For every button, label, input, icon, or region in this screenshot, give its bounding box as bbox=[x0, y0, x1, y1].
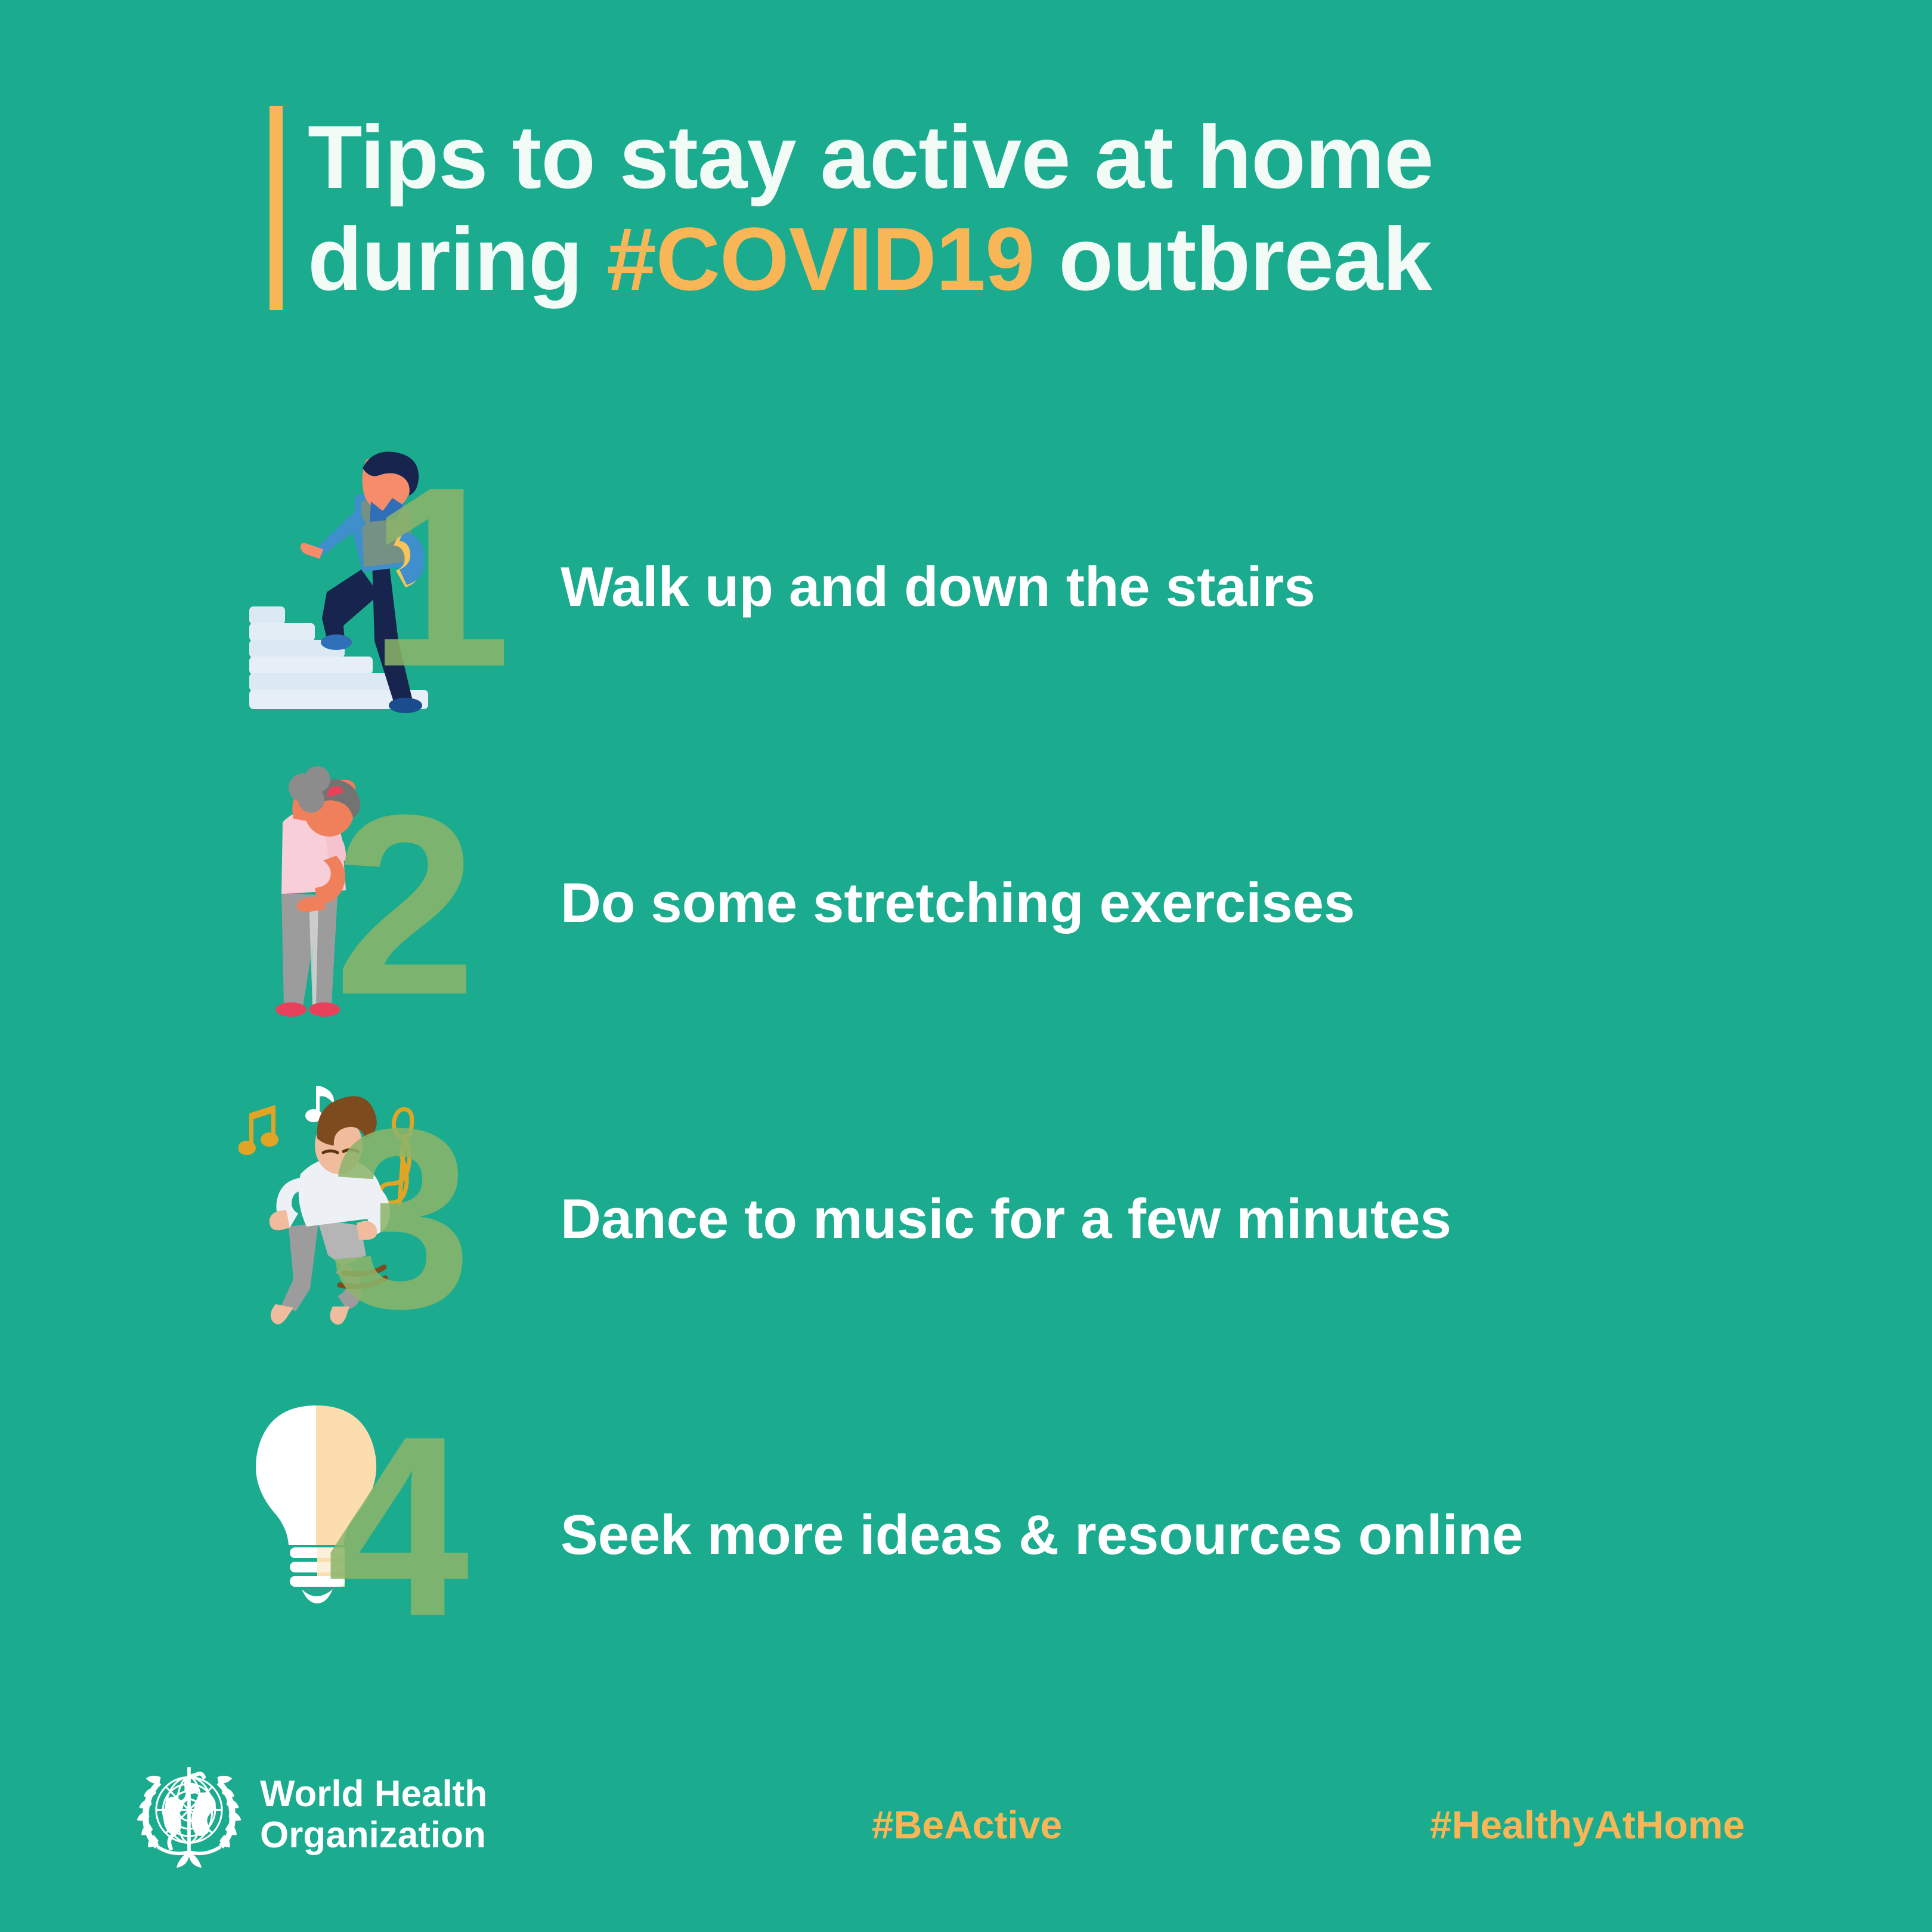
tip-number-4: 4 bbox=[327, 1398, 469, 1655]
title-line-1: Tips to stay active at home bbox=[308, 106, 1433, 208]
tip-number-2: 2 bbox=[334, 777, 476, 1033]
tip-row-1: 1 bbox=[0, 444, 1932, 760]
tip-label-4: Seek more ideas & resources online bbox=[561, 1503, 1523, 1567]
music-note-yellow-icon bbox=[239, 1105, 278, 1155]
hashtag-beactive[interactable]: #BeActive bbox=[872, 1802, 1062, 1847]
tip-row-3: 3 bbox=[0, 1076, 1932, 1392]
title-line2-before: during bbox=[308, 209, 606, 309]
tip-row-2: 2 bbox=[0, 760, 1932, 1076]
page-title: Tips to stay active at home during #COVI… bbox=[270, 106, 1433, 310]
covid-hashtag: #COVID19 bbox=[606, 209, 1034, 309]
person-climbing-stairs-illustration: 1 bbox=[239, 444, 537, 724]
title-line-2: during #COVID19 outbreak bbox=[308, 208, 1433, 310]
tip-row-4: 4 Seek more ideas & resources online bbox=[0, 1392, 1932, 1708]
lightbulb-illustration: 4 bbox=[239, 1392, 537, 1673]
tip-label-3: Dance to music for a few minutes bbox=[561, 1187, 1451, 1251]
hashtag-healthyathome[interactable]: #HealthyAtHome bbox=[1430, 1802, 1745, 1847]
person-stretching-illustration: 2 bbox=[239, 760, 537, 1041]
who-org-line-1: World Health bbox=[260, 1773, 487, 1815]
tip-label-1: Walk up and down the stairs bbox=[561, 555, 1315, 619]
who-org-line-2: Organization bbox=[260, 1815, 487, 1856]
tips-list: 1 bbox=[0, 444, 1932, 1708]
who-logo: World Health Organization bbox=[132, 1758, 487, 1871]
title-lines: Tips to stay active at home during #COVI… bbox=[308, 106, 1433, 310]
person-dancing-with-music-notes-illustration: 3 bbox=[239, 1076, 537, 1357]
title-line2-after: outbreak bbox=[1035, 209, 1432, 309]
tip-number-3: 3 bbox=[329, 1091, 472, 1347]
title-accent-bar bbox=[270, 106, 283, 310]
who-org-name: World Health Organization bbox=[260, 1773, 487, 1856]
tip-number-1: 1 bbox=[369, 449, 511, 705]
footer: World Health Organization #BeActive #Hea… bbox=[0, 1735, 1932, 1932]
who-emblem-icon bbox=[132, 1758, 246, 1871]
tip-label-2: Do some stretching exercises bbox=[561, 871, 1355, 935]
